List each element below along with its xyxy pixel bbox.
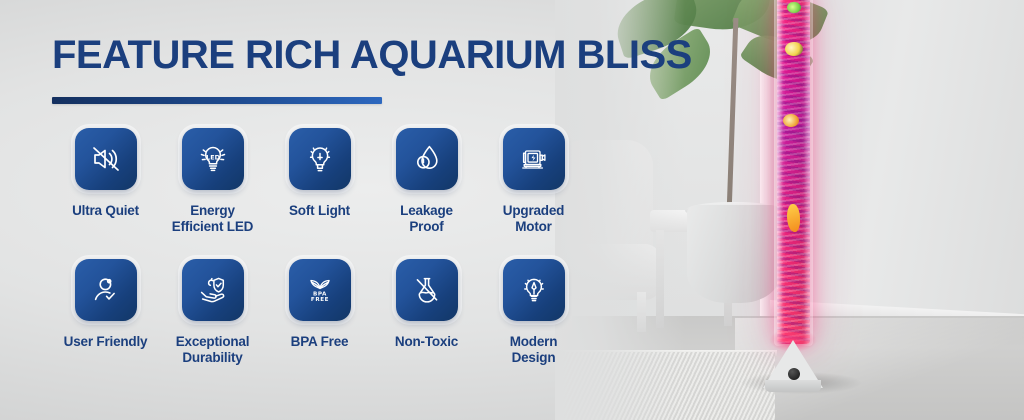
hand-shield-icon xyxy=(196,273,230,307)
feature-tile[interactable]: LED xyxy=(182,128,244,190)
feature-tile[interactable] xyxy=(75,259,137,321)
lamp-base xyxy=(763,334,823,394)
feature-label: Energy Efficient LED xyxy=(172,203,253,235)
feature-label: Leakage Proof xyxy=(400,203,453,235)
feature-item-non-toxic[interactable]: Non-Toxic xyxy=(373,259,480,366)
feature-row-1: Ultra Quiet LED xyxy=(52,128,597,235)
electric-motor-icon xyxy=(517,142,551,176)
feature-tile[interactable] xyxy=(503,128,565,190)
feature-tile[interactable] xyxy=(182,259,244,321)
mute-speaker-icon xyxy=(89,142,123,176)
feature-item-bpa-free[interactable]: BPA FREE BPA Free xyxy=(266,259,373,366)
feature-item-upgraded-motor[interactable]: Upgraded Motor xyxy=(480,128,587,235)
light-bulb-icon xyxy=(303,142,337,176)
feature-tile[interactable]: BPA FREE xyxy=(289,259,351,321)
feature-label: Ultra Quiet xyxy=(72,203,139,219)
bubble-tube-aquarium-lamp xyxy=(763,0,823,414)
leaves-bpa-free-icon: BPA FREE xyxy=(303,273,337,307)
page-title: FEATURE RICH AQUARIUM BLISS xyxy=(52,33,692,78)
feature-label: BPA Free xyxy=(291,334,349,350)
lamp-power-knob[interactable] xyxy=(788,368,800,380)
feature-item-energy-efficient-led[interactable]: LED Energy Efficient LED xyxy=(159,128,266,235)
bulb-pen-nib-icon xyxy=(517,273,551,307)
user-check-icon xyxy=(89,273,123,307)
feature-grid: Ultra Quiet LED xyxy=(52,128,597,366)
angelfish-icon xyxy=(785,42,803,56)
svg-text:LED: LED xyxy=(206,154,220,162)
feature-label: Exceptional Durability xyxy=(176,334,250,366)
feature-label: Modern Design xyxy=(510,334,558,366)
svg-text:FREE: FREE xyxy=(310,297,328,303)
no-toxic-flask-icon xyxy=(410,273,444,307)
feature-item-user-friendly[interactable]: User Friendly xyxy=(52,259,159,366)
led-bulb-icon: LED xyxy=(196,142,230,176)
lamp-base-front xyxy=(765,380,821,392)
seahorse-icon xyxy=(787,204,800,232)
feature-tile[interactable] xyxy=(503,259,565,321)
feature-tile[interactable] xyxy=(396,128,458,190)
content-area: FEATURE RICH AQUARIUM BLISS xyxy=(0,0,600,420)
feature-banner: FEATURE RICH AQUARIUM BLISS xyxy=(0,0,1024,420)
feature-item-soft-light[interactable]: Soft Light xyxy=(266,128,373,235)
water-drop-alert-icon xyxy=(410,142,444,176)
feature-row-2: User Friendly xyxy=(52,259,597,366)
feature-label: User Friendly xyxy=(64,334,148,350)
feature-label: Soft Light xyxy=(289,203,350,219)
feature-item-exceptional-durability[interactable]: Exceptional Durability xyxy=(159,259,266,366)
feature-tile[interactable] xyxy=(396,259,458,321)
feature-item-ultra-quiet[interactable]: Ultra Quiet xyxy=(52,128,159,235)
feature-tile[interactable] xyxy=(289,128,351,190)
feature-tile[interactable] xyxy=(75,128,137,190)
tropical-fish-icon xyxy=(787,2,801,13)
title-underline-rule xyxy=(52,97,382,104)
feature-item-leakage-proof[interactable]: Leakage Proof xyxy=(373,128,480,235)
plant-trunk xyxy=(727,18,739,213)
feature-label: Non-Toxic xyxy=(395,334,458,350)
feature-item-modern-design[interactable]: Modern Design xyxy=(480,259,587,366)
clownfish-icon xyxy=(783,114,799,127)
feature-label: Upgraded Motor xyxy=(503,203,564,235)
